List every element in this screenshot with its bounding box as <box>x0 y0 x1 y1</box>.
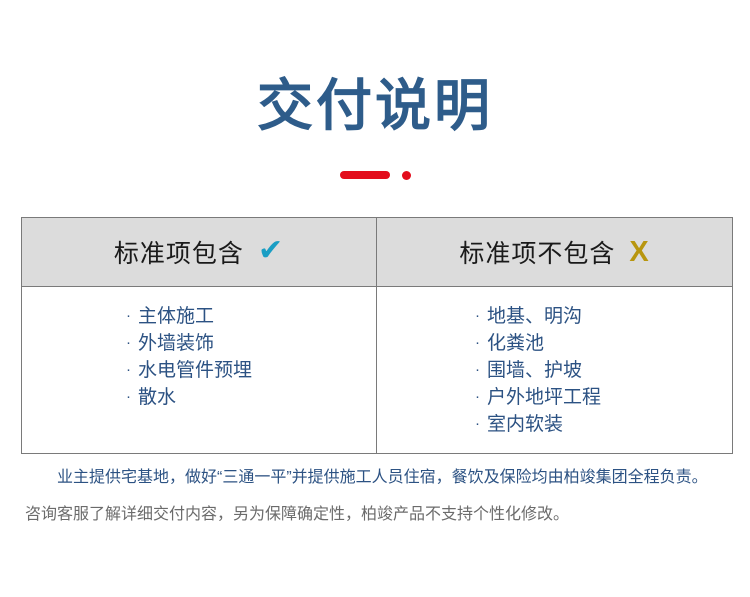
table-header-row: 标准项包含 ✔ 标准项不包含 X <box>22 218 732 287</box>
bullet-icon: · <box>475 389 480 404</box>
list-item: · 地基、明沟 <box>475 304 601 331</box>
list-item-label: 地基、明沟 <box>487 304 582 331</box>
list-item: · 户外地坪工程 <box>475 385 601 412</box>
bullet-icon: · <box>126 335 131 350</box>
table-cell-included-items: · 主体施工 · 外墙装饰 · 水电管件预埋 · 散水 <box>22 287 377 453</box>
excluded-header-label: 标准项不包含 <box>459 234 615 270</box>
list-item: · 散水 <box>126 385 252 412</box>
bullet-icon: · <box>126 308 131 323</box>
delivery-scope-table: 标准项包含 ✔ 标准项不包含 X · 主体施工 · <box>21 217 733 454</box>
title-divider-decoration <box>0 170 750 180</box>
footer-primary-note: 业主提供宅基地，做好“三通一平”并提供施工人员住宿，餐饮及保险均由柏竣集团全程负… <box>25 465 729 490</box>
list-item-label: 户外地坪工程 <box>487 385 601 412</box>
delivery-instructions-page: 交付说明 标准项包含 ✔ 标准项不包含 X <box>0 0 750 597</box>
footer-secondary-note: 咨询客服了解详细交付内容，另为保障确定性，柏竣产品不支持个性化修改。 <box>25 503 729 527</box>
table-cell-excluded-items: · 地基、明沟 · 化粪池 · 围墙、护坡 · 户外地坪工程 <box>377 287 732 453</box>
page-title: 交付说明 <box>0 78 750 134</box>
list-item-label: 主体施工 <box>138 304 214 331</box>
red-dot-icon <box>402 171 411 180</box>
list-item-label: 室内软装 <box>487 412 563 439</box>
table-body-row: · 主体施工 · 外墙装饰 · 水电管件预埋 · 散水 <box>22 287 732 454</box>
cross-mark-icon: X <box>629 238 649 267</box>
check-mark-icon: ✔ <box>258 236 284 266</box>
list-item-label: 散水 <box>138 385 176 412</box>
list-item: · 围墙、护坡 <box>475 358 601 385</box>
bullet-icon: · <box>475 362 480 377</box>
list-item-label: 化粪池 <box>487 331 544 358</box>
list-item-label: 围墙、护坡 <box>487 358 582 385</box>
list-item-label: 外墙装饰 <box>138 331 214 358</box>
list-item-label: 水电管件预埋 <box>138 358 252 385</box>
table-header-cell-excluded: 标准项不包含 X <box>377 218 732 286</box>
list-item: · 室内软装 <box>475 412 601 439</box>
list-item: · 水电管件预埋 <box>126 358 252 385</box>
list-item: · 主体施工 <box>126 304 252 331</box>
list-item: · 外墙装饰 <box>126 331 252 358</box>
bullet-icon: · <box>126 389 131 404</box>
excluded-items-list: · 地基、明沟 · 化粪池 · 围墙、护坡 · 户外地坪工程 <box>467 304 601 439</box>
list-item: · 化粪池 <box>475 331 601 358</box>
bullet-icon: · <box>475 308 480 323</box>
bullet-icon: · <box>475 335 480 350</box>
table-header-cell-included: 标准项包含 ✔ <box>22 218 377 286</box>
footer-notes: 业主提供宅基地，做好“三通一平”并提供施工人员住宿，餐饮及保险均由柏竣集团全程负… <box>21 454 733 527</box>
bullet-icon: · <box>475 416 480 431</box>
red-bar-icon <box>340 171 390 179</box>
bullet-icon: · <box>126 362 131 377</box>
included-header-label: 标准项包含 <box>114 234 244 270</box>
included-items-list: · 主体施工 · 外墙装饰 · 水电管件预埋 · 散水 <box>118 304 252 412</box>
title-block: 交付说明 <box>0 0 750 180</box>
